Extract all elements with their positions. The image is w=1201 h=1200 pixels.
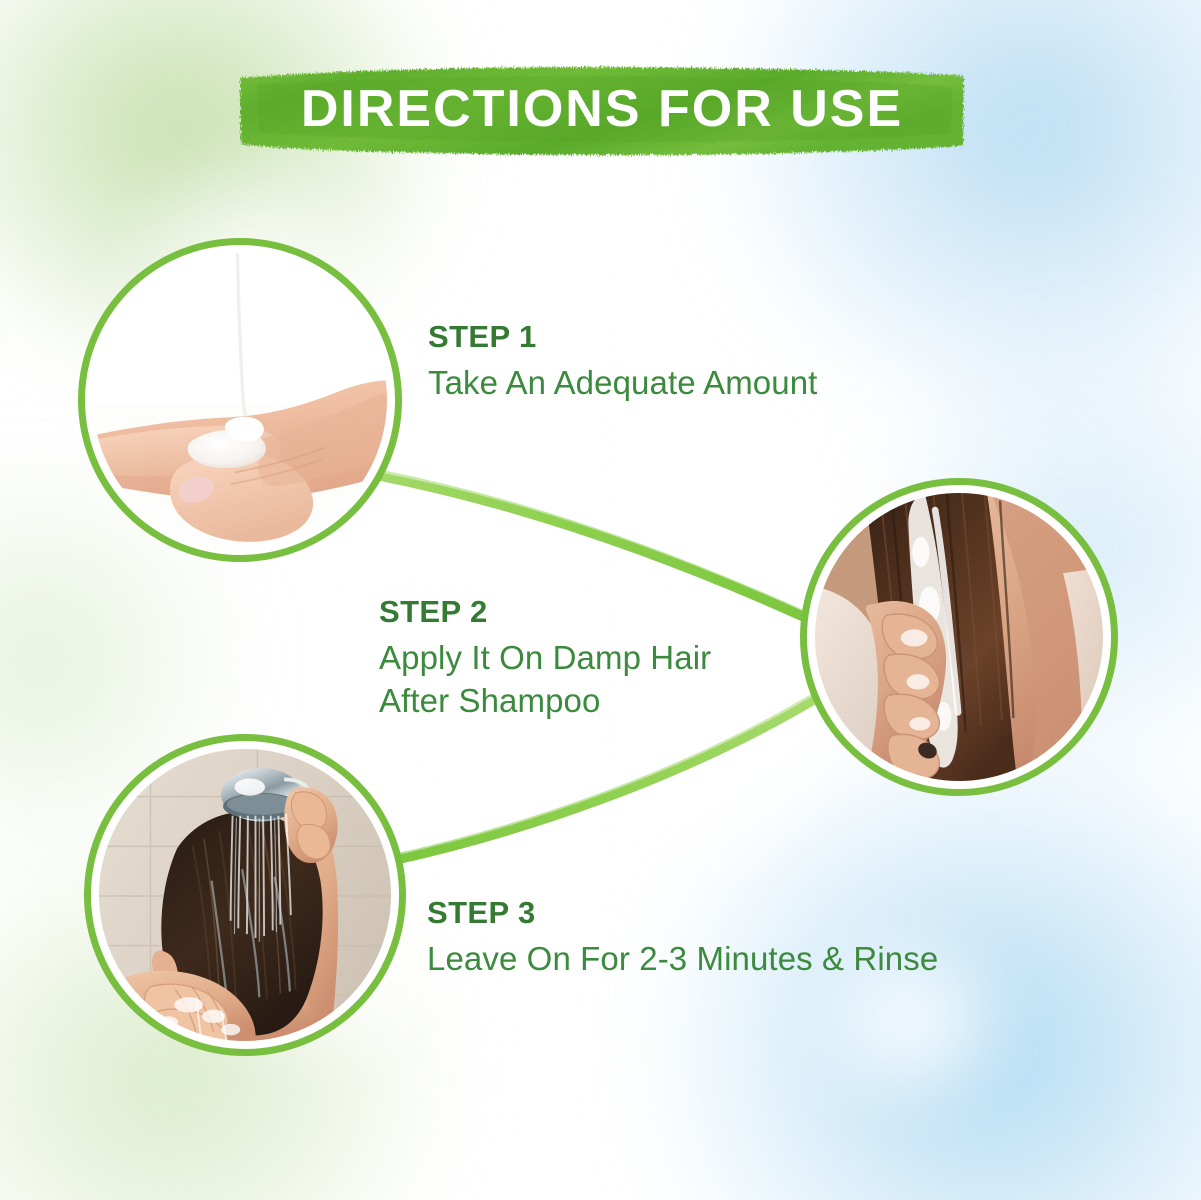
step-2-text-block: STEP 2 Apply It On Damp Hair After Shamp… bbox=[379, 595, 711, 723]
page-title: DIRECTIONS FOR USE bbox=[237, 62, 967, 158]
step-3-photo-circle bbox=[84, 734, 406, 1056]
directions-for-use-infographic: DIRECTIONS FOR USE bbox=[0, 0, 1201, 1200]
step-1-text-block: STEP 1 Take An Adequate Amount bbox=[428, 320, 817, 404]
step-3-text-block: STEP 3 Leave On For 2-3 Minutes & Rinse bbox=[427, 896, 938, 980]
ribbon-step2-to-step3 bbox=[392, 700, 812, 860]
rinsing-hair-with-shower-head-photo bbox=[97, 747, 393, 1043]
step-3-label: STEP 3 bbox=[427, 896, 938, 931]
applying-conditioner-to-hair-photo bbox=[813, 491, 1105, 783]
ribbon-step1-to-step2-highlight bbox=[352, 466, 812, 614]
step-3-description: Leave On For 2-3 Minutes & Rinse bbox=[427, 937, 938, 981]
hand-with-product-dollop-photo bbox=[91, 251, 389, 549]
step-2-description: Apply It On Damp Hair After Shampoo bbox=[379, 636, 711, 723]
step-2-description-line-2: After Shampoo bbox=[379, 679, 711, 723]
step-1-photo-circle bbox=[78, 238, 402, 562]
step-2-label: STEP 2 bbox=[379, 595, 711, 630]
step-2-description-line-1: Apply It On Damp Hair bbox=[379, 636, 711, 680]
step-2-photo-circle bbox=[800, 478, 1118, 796]
step-1-label: STEP 1 bbox=[428, 320, 817, 355]
page-title-banner: DIRECTIONS FOR USE bbox=[237, 62, 967, 158]
step-1-description: Take An Adequate Amount bbox=[428, 361, 817, 405]
